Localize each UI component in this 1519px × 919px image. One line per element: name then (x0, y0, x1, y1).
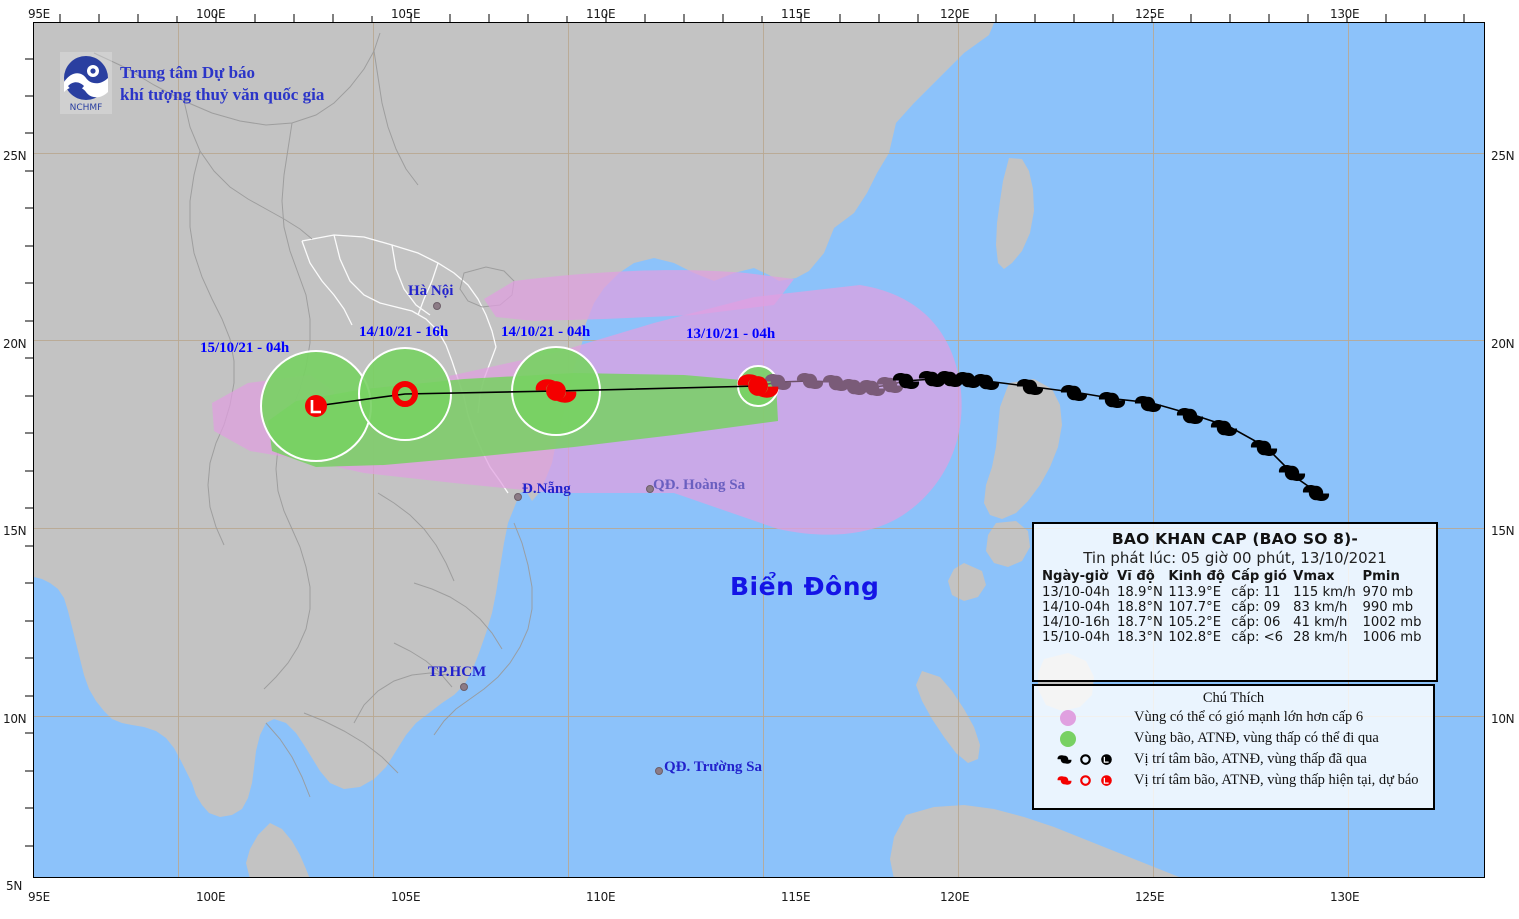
cell-pmin: 970 mb (1363, 585, 1428, 600)
col-windlevel: Cấp gió (1231, 569, 1293, 585)
axis-label-lat-left: 15N (3, 524, 26, 538)
legend-text-current-positions: Vị trí tâm bão, ATNĐ, vùng thấp hiện tại… (1134, 772, 1419, 789)
cell-vmax: 41 km/h (1293, 615, 1362, 630)
city-label-hanoi: Hà Nội (408, 283, 453, 300)
axis-label-lon-bottom: 120E (940, 890, 969, 904)
cell-datetime: 13/10-04h (1042, 585, 1117, 600)
forecast-time-label-14-10-04h: 14/10/21 - 04h (501, 324, 590, 341)
low-symbol-black-icon (1098, 751, 1115, 768)
cell-longitude: 113.9°E (1168, 585, 1231, 600)
city-label-tphcm: TP.HCM (428, 664, 486, 681)
cell-datetime: 14/10-04h (1042, 600, 1117, 615)
forecast-table: Ngày-giờ Vĩ độ Kinh độ Cấp gió Vmax Pmin… (1042, 569, 1428, 645)
typhoon-symbol-red-icon (1056, 772, 1073, 789)
table-row: 15/10-04h 18.3°N 102.8°E cấp: <6 28 km/h… (1042, 630, 1428, 645)
legend-key-wind-zone (1056, 710, 1134, 726)
axis-label-lon-top: 115E (781, 7, 810, 21)
legend-key-current-positions (1056, 772, 1134, 789)
axis-label-lon-top: 130E (1330, 7, 1359, 21)
depression-symbol-red-icon (1077, 772, 1094, 789)
axis-label-lon-top: 105E (391, 7, 420, 21)
city-label-hoangsa: QĐ. Hoàng Sa (653, 477, 745, 494)
city-label-danang: Đ.Nẵng (522, 481, 571, 498)
axis-label-lon-bottom: 130E (1330, 890, 1359, 904)
legend-item-current-positions: Vị trí tâm bão, ATNĐ, vùng thấp hiện tại… (1034, 770, 1433, 791)
city-dot-truongsa (655, 767, 663, 775)
axis-label-lon-bottom: 110E (586, 890, 615, 904)
logo-caption-line2: khí tượng thuỷ văn quốc gia (120, 84, 324, 106)
axis-label-lat-left: 20N (3, 337, 26, 351)
marker-typhoon-13-10-04h (738, 374, 779, 397)
legend-item-past-positions: Vị trí tâm bão, ATNĐ, vùng thấp đã qua (1034, 749, 1433, 770)
bulletin-issue-time: Tin phát lúc: 05 giờ 00 phút, 13/10/2021 (1042, 549, 1428, 567)
city-dot-tphcm (460, 683, 468, 691)
marker-depression-14-10-16h (395, 384, 415, 404)
legend-text-past-positions: Vị trí tâm bão, ATNĐ, vùng thấp đã qua (1134, 751, 1367, 768)
depression-symbol-black-icon (1077, 751, 1094, 768)
forecast-info-panel: BAO KHAN CAP (BAO SO 8)- Tin phát lúc: 0… (1032, 522, 1438, 682)
legend-text-wind-zone: Vùng có thể có gió mạnh lớn hơn cấp 6 (1134, 709, 1363, 726)
sea-name-label: Biển Đông (730, 572, 879, 601)
typhoon-forecast-map-page: 95E 100E 105E 110E 115E 120E 125E 130E 9… (0, 0, 1519, 919)
city-dot-danang (514, 493, 522, 501)
cell-vmax: 115 km/h (1293, 585, 1362, 600)
table-row: 14/10-04h 18.8°N 107.7°E cấp: 09 83 km/h… (1042, 600, 1428, 615)
city-label-truongsa: QĐ. Trường Sa (664, 759, 762, 776)
table-row: 13/10-04h 18.9°N 113.9°E cấp: 11 115 km/… (1042, 585, 1428, 600)
axis-label-lat-right: 10N (1491, 712, 1514, 726)
axis-label-lon-bottom: 115E (781, 890, 810, 904)
axis-label-lon-bottom: 105E (391, 890, 420, 904)
cell-datetime: 14/10-16h (1042, 615, 1117, 630)
cell-longitude: 107.7°E (1168, 600, 1231, 615)
axis-label-lat-right: 25N (1491, 149, 1514, 163)
cell-latitude: 18.3°N (1117, 630, 1168, 645)
table-row: 14/10-16h 18.7°N 105.2°E cấp: 06 41 km/h… (1042, 615, 1428, 630)
axis-label-lon-bottom: 100E (196, 890, 225, 904)
logo-caption-line1: Trung tâm Dự báo (120, 62, 324, 84)
axis-label-lon-top: 95E (28, 7, 50, 21)
cell-latitude: 18.7°N (1117, 615, 1168, 630)
cell-latitude: 18.8°N (1117, 600, 1168, 615)
axis-label-lat-left: 10N (3, 712, 26, 726)
legend-key-past-positions (1056, 751, 1134, 768)
col-datetime: Ngày-giờ (1042, 569, 1117, 585)
col-latitude: Vĩ độ (1117, 569, 1168, 585)
nchmf-logo-icon: NCHMF (60, 52, 112, 114)
legend-title: Chú Thích (1034, 686, 1433, 707)
table-header-row: Ngày-giờ Vĩ độ Kinh độ Cấp gió Vmax Pmin (1042, 569, 1428, 585)
marker-low-15-10-04h (305, 395, 327, 417)
cell-windlevel: cấp: 06 (1231, 615, 1293, 630)
legend-item-storm-zone: Vùng bão, ATNĐ, vùng thấp có thể đi qua (1034, 728, 1433, 749)
cell-pmin: 990 mb (1363, 600, 1428, 615)
legend-panel: Chú Thích Vùng có thể có gió mạnh lớn hơ… (1032, 684, 1435, 810)
forecast-time-label-15-10-04h: 15/10/21 - 04h (200, 340, 289, 357)
axis-label-lon-bottom: 95E (28, 890, 50, 904)
forecast-time-label-13-10-04h: 13/10/21 - 04h (686, 326, 775, 343)
cell-windlevel: cấp: <6 (1231, 630, 1293, 645)
axis-label-lon-top: 120E (940, 7, 969, 21)
axis-label-lon-top: 110E (586, 7, 615, 21)
green-circle-icon (1060, 731, 1076, 747)
axis-label-lon-bottom: 125E (1135, 890, 1164, 904)
col-vmax: Vmax (1293, 569, 1362, 585)
cell-windlevel: cấp: 11 (1231, 585, 1293, 600)
cell-vmax: 28 km/h (1293, 630, 1362, 645)
cell-latitude: 18.9°N (1117, 585, 1168, 600)
cell-windlevel: cấp: 09 (1231, 600, 1293, 615)
typhoon-symbol-black-icon (1056, 751, 1073, 768)
marker-typhoon-14-10-04h (536, 379, 577, 402)
axis-label-lon-top: 100E (196, 7, 225, 21)
col-longitude: Kinh độ (1168, 569, 1231, 585)
axis-label-lat-right: 20N (1491, 337, 1514, 351)
cell-datetime: 15/10-04h (1042, 630, 1117, 645)
bulletin-title: BAO KHAN CAP (BAO SO 8)- (1042, 530, 1428, 548)
cell-pmin: 1002 mb (1363, 615, 1428, 630)
axis-label-lat-right: 15N (1491, 524, 1514, 538)
axis-label-lat-left: 25N (3, 149, 26, 163)
pink-circle-icon (1060, 710, 1076, 726)
legend-item-wind-zone: Vùng có thể có gió mạnh lớn hơn cấp 6 (1034, 707, 1433, 728)
forecast-time-label-14-10-16h: 14/10/21 - 16h (359, 324, 448, 341)
cell-pmin: 1006 mb (1363, 630, 1428, 645)
cell-vmax: 83 km/h (1293, 600, 1362, 615)
cell-longitude: 105.2°E (1168, 615, 1231, 630)
axis-label-lat-left: 5N (6, 879, 22, 893)
axis-label-lon-top: 125E (1135, 7, 1164, 21)
legend-key-storm-zone (1056, 731, 1134, 747)
cell-longitude: 102.8°E (1168, 630, 1231, 645)
col-pmin: Pmin (1363, 569, 1428, 585)
logo-caption: Trung tâm Dự báo khí tượng thuỷ văn quốc… (120, 62, 324, 106)
low-symbol-red-icon (1098, 772, 1115, 789)
legend-text-storm-zone: Vùng bão, ATNĐ, vùng thấp có thể đi qua (1134, 730, 1379, 747)
svg-text:NCHMF: NCHMF (70, 103, 103, 113)
city-dot-hanoi (433, 302, 441, 310)
